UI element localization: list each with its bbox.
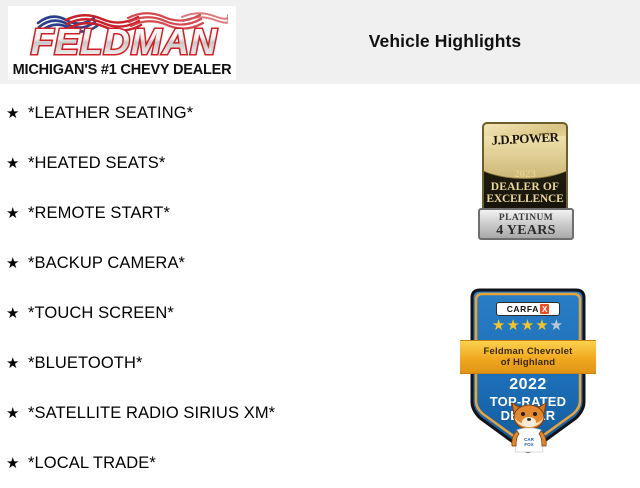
carfax-logo-text: CARFA: [507, 305, 539, 314]
highlight-label: *LOCAL TRADE*: [28, 454, 156, 473]
list-item: ★ *SATELLITE RADIO SIRIUS XM*: [0, 388, 430, 438]
jd-power-award-line-1: DEALER OF: [484, 181, 566, 193]
jd-power-tier-label: PLATINUM: [480, 213, 572, 223]
jd-power-shield: J.D.POWER 2023 DEALER OF EXCELLENCE: [482, 122, 568, 216]
page-title: Vehicle Highlights: [300, 31, 590, 52]
carfax-star-rating: ★★★★★: [462, 318, 594, 333]
star-icon: ★: [506, 317, 520, 334]
list-item: ★ *HEATED SEATS*: [0, 138, 430, 188]
car-fox-shirt-text: CAR FOX: [506, 437, 552, 447]
carfax-year: 2022: [462, 376, 594, 394]
jd-power-tier-banner: PLATINUM 4 YEARS: [478, 208, 574, 240]
list-item: ★ *LEATHER SEATING*: [0, 88, 430, 138]
jd-power-duration-label: 4 YEARS: [480, 223, 572, 239]
star-bullet-icon: ★: [6, 306, 28, 321]
star-bullet-icon: ★: [6, 156, 28, 171]
vehicle-highlights-list: ★ *LEATHER SEATING* ★ *HEATED SEATS* ★ *…: [0, 88, 430, 488]
highlight-label: *BACKUP CAMERA*: [28, 254, 185, 273]
list-item: ★ *TOUCH SCREEN*: [0, 288, 430, 338]
highlight-label: *TOUCH SCREEN*: [28, 304, 174, 323]
jd-power-award-line-2: EXCELLENCE: [484, 193, 566, 205]
star-icon-empty: ★: [550, 317, 564, 334]
star-bullet-icon: ★: [6, 206, 28, 221]
star-bullet-icon: ★: [6, 256, 28, 271]
highlight-label: *HEATED SEATS*: [28, 154, 165, 173]
carfax-dealer-name-line-2: of Highland: [460, 357, 596, 368]
list-item: ★ *LOCAL TRADE*: [0, 438, 430, 488]
list-item: ★ *BACKUP CAMERA*: [0, 238, 430, 288]
svg-text:FELDMAN: FELDMAN: [31, 22, 218, 62]
carfax-logo-accent: X: [540, 304, 549, 314]
list-item: ★ *BLUETOOTH*: [0, 338, 430, 388]
highlight-label: *SATELLITE RADIO SIRIUS XM*: [28, 404, 275, 423]
star-bullet-icon: ★: [6, 406, 28, 421]
highlight-label: *LEATHER SEATING*: [28, 104, 193, 123]
star-icon: ★: [521, 317, 535, 334]
star-bullet-icon: ★: [6, 106, 28, 121]
star-icon: ★: [492, 317, 506, 334]
feldman-logo-tagline: MICHIGAN'S #1 CHEVY DEALER: [8, 62, 236, 78]
car-fox-shirt-line-2: FOX: [506, 442, 552, 447]
list-item: ★ *REMOTE START*: [0, 188, 430, 238]
car-fox-mascot: CAR FOX: [506, 400, 552, 454]
star-bullet-icon: ★: [6, 456, 28, 471]
jd-power-badge[interactable]: J.D.POWER 2023 DEALER OF EXCELLENCE PLAT…: [478, 122, 574, 240]
carfax-dealer-name-line-1: Feldman Chevrolet: [460, 346, 596, 357]
feldman-dealer-logo[interactable]: FELDMAN MICHIGAN'S #1 CHEVY DEALER: [8, 6, 236, 80]
carfax-dealer-ribbon: Feldman Chevrolet of Highland: [460, 340, 596, 374]
star-icon: ★: [535, 317, 549, 334]
highlight-label: *REMOTE START*: [28, 204, 170, 223]
award-badges-column: J.D.POWER 2023 DEALER OF EXCELLENCE PLAT…: [440, 88, 640, 480]
star-bullet-icon: ★: [6, 356, 28, 371]
highlight-label: *BLUETOOTH*: [28, 354, 143, 373]
carfax-badge[interactable]: CARFAX ★★★★★ Feldman Chevrolet of Highla…: [462, 284, 594, 456]
carfax-logo: CARFAX: [496, 302, 560, 316]
feldman-wordmark: FELDMAN: [10, 22, 234, 62]
jd-power-year: 2023: [484, 168, 566, 180]
